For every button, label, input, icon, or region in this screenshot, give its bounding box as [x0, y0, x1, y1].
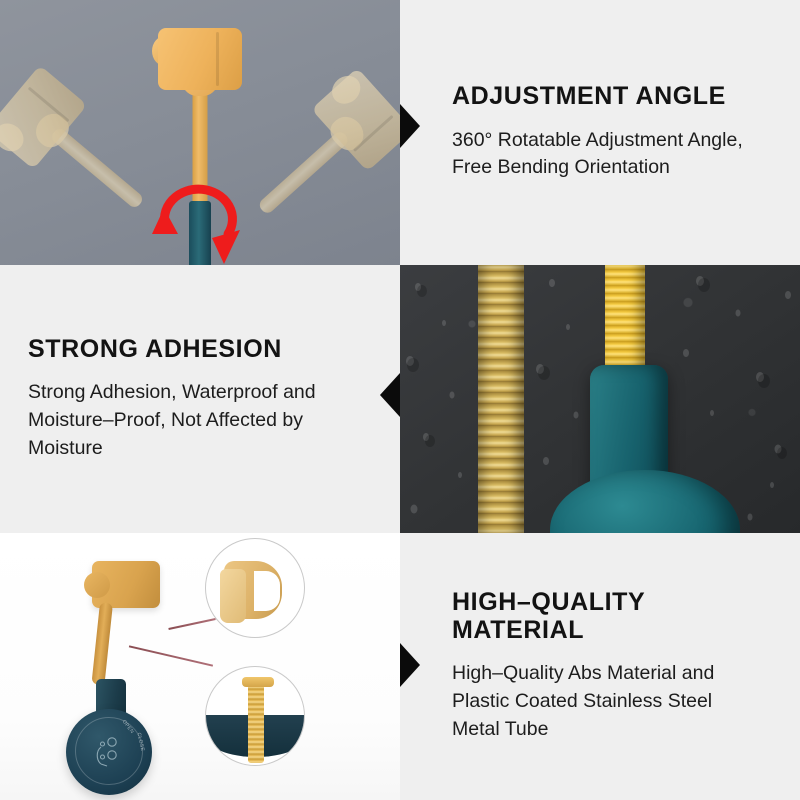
shower-head-logo-icon: [92, 733, 126, 769]
feature-body-line: 360° Rotatable Adjustment Angle,: [452, 127, 774, 155]
photo-suction-cup: OPEN CLOSE: [0, 533, 400, 800]
feature-panel-strong-adhesion: STRONG ADHESION Strong Adhesion, Waterpr…: [0, 265, 400, 533]
feature-title: ADJUSTMENT ANGLE: [452, 83, 774, 111]
feature-title: STRONG ADHESION: [28, 336, 344, 364]
holder-head: [158, 28, 242, 90]
callout-tube: [205, 666, 305, 766]
feature-body: High–Quality Abs Material and Plastic Co…: [452, 660, 778, 743]
callout-cradle: [205, 538, 305, 638]
callout-leader-line: [129, 645, 213, 666]
feature-panel-adjustment-angle: ADJUSTMENT ANGLE 360° Rotatable Adjustme…: [400, 0, 800, 265]
rotation-arrow-icon: [144, 168, 256, 265]
feature-body-line: Moisture–Proof, Not Affected by: [28, 407, 344, 435]
feature-body: 360° Rotatable Adjustment Angle, Free Be…: [452, 127, 774, 182]
product-knuckle: [84, 572, 110, 598]
feature-body-line: Plastic Coated Stainless Steel: [452, 688, 778, 716]
feature-body: Strong Adhesion, Waterproof and Moisture…: [28, 379, 344, 462]
holder-seam: [216, 32, 219, 86]
arrow-marker-right-icon: [400, 104, 420, 148]
product-metal-tube: [91, 602, 113, 685]
infographic-sheet: ADJUSTMENT ANGLE 360° Rotatable Adjustme…: [0, 0, 800, 800]
feature-body-line: Strong Adhesion, Waterproof and: [28, 379, 344, 407]
tube-joint-ribbed-rod: [248, 679, 264, 763]
feature-title: HIGH–QUALITY MATERIAL: [452, 589, 778, 644]
tube-joint-cap: [242, 677, 274, 687]
cradle-clip-opening: [254, 571, 280, 611]
gold-flexible-hose: [478, 265, 524, 533]
arrow-marker-left-icon: [380, 373, 400, 417]
holder-arm-right-ghost: [234, 61, 400, 241]
feature-body-line: Free Bending Orientation: [452, 154, 774, 182]
feature-body-line: High–Quality Abs Material and: [452, 660, 778, 688]
feature-body-line: Metal Tube: [452, 716, 778, 744]
yellow-hose-segment: [605, 265, 645, 379]
callout-leader-line: [168, 618, 215, 629]
feature-body-line: Moisture: [28, 435, 344, 463]
photo-rotation: [0, 0, 400, 265]
feature-panel-high-quality-material: HIGH–QUALITY MATERIAL High–Quality Abs M…: [400, 533, 800, 800]
arrow-marker-right-icon: [400, 643, 420, 687]
cradle-clip-face: [220, 569, 246, 623]
holder-arm-left-ghost: [0, 59, 167, 236]
photo-wet-wall: [400, 265, 800, 533]
